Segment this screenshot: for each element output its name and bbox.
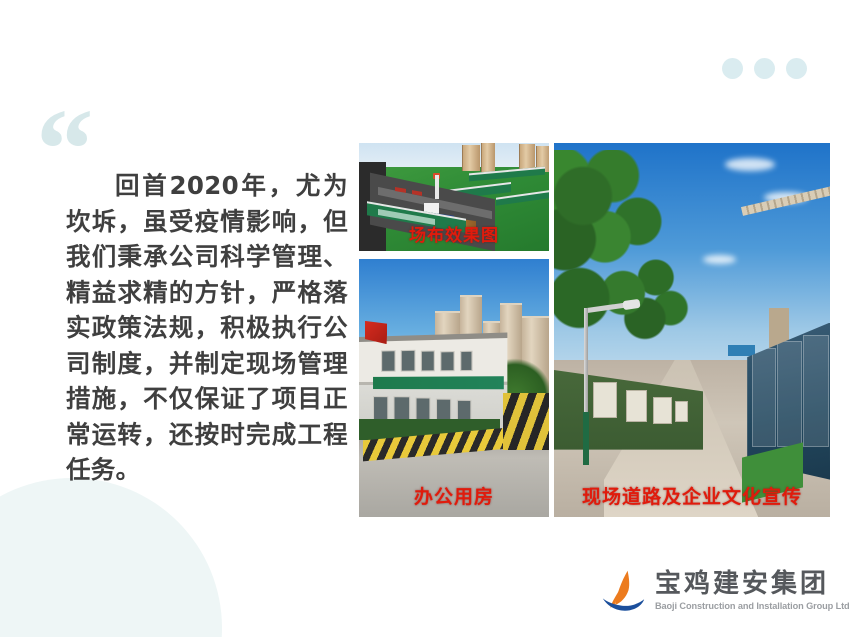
- presentation-slide: “ 回首2020年，尤为坎坼，虽受疫情影响，但我们秉承公司科学管理、精益求精的方…: [0, 0, 850, 637]
- photo-office-building: 办公用房: [359, 259, 549, 517]
- photo-caption-office: 办公用房: [359, 482, 549, 509]
- body-paragraph: 回首2020年，尤为坎坼，虽受疫情影响，但我们秉承公司科学管理、精益求精的方针，…: [66, 168, 348, 488]
- sail-boat-logo-icon: [600, 568, 646, 614]
- logo-name-cn: 宝鸡建安集团: [655, 571, 850, 597]
- decorative-dot-2: [754, 58, 775, 79]
- office-building-illustration: [359, 259, 549, 517]
- decorative-circle-bottom-left: [0, 478, 222, 637]
- logo-text-block: 宝鸡建安集团 Baoji Construction and Installati…: [655, 571, 850, 611]
- site-road-illustration: [554, 143, 830, 517]
- photo-site-road: 现场道路及企业文化宣传: [554, 143, 830, 517]
- photo-caption-road: 现场道路及企业文化宣传: [554, 482, 830, 509]
- photo-caption-site-plan: 场布效果图: [359, 221, 549, 246]
- company-logo: 宝鸡建安集团 Baoji Construction and Installati…: [600, 568, 850, 614]
- decorative-dot-1: [722, 58, 743, 79]
- logo-name-en: Baoji Construction and Installation Grou…: [655, 602, 850, 611]
- photo-site-plan: 场布效果图: [359, 143, 549, 251]
- decorative-dot-3: [786, 58, 807, 79]
- decorative-dots-group: [722, 58, 807, 79]
